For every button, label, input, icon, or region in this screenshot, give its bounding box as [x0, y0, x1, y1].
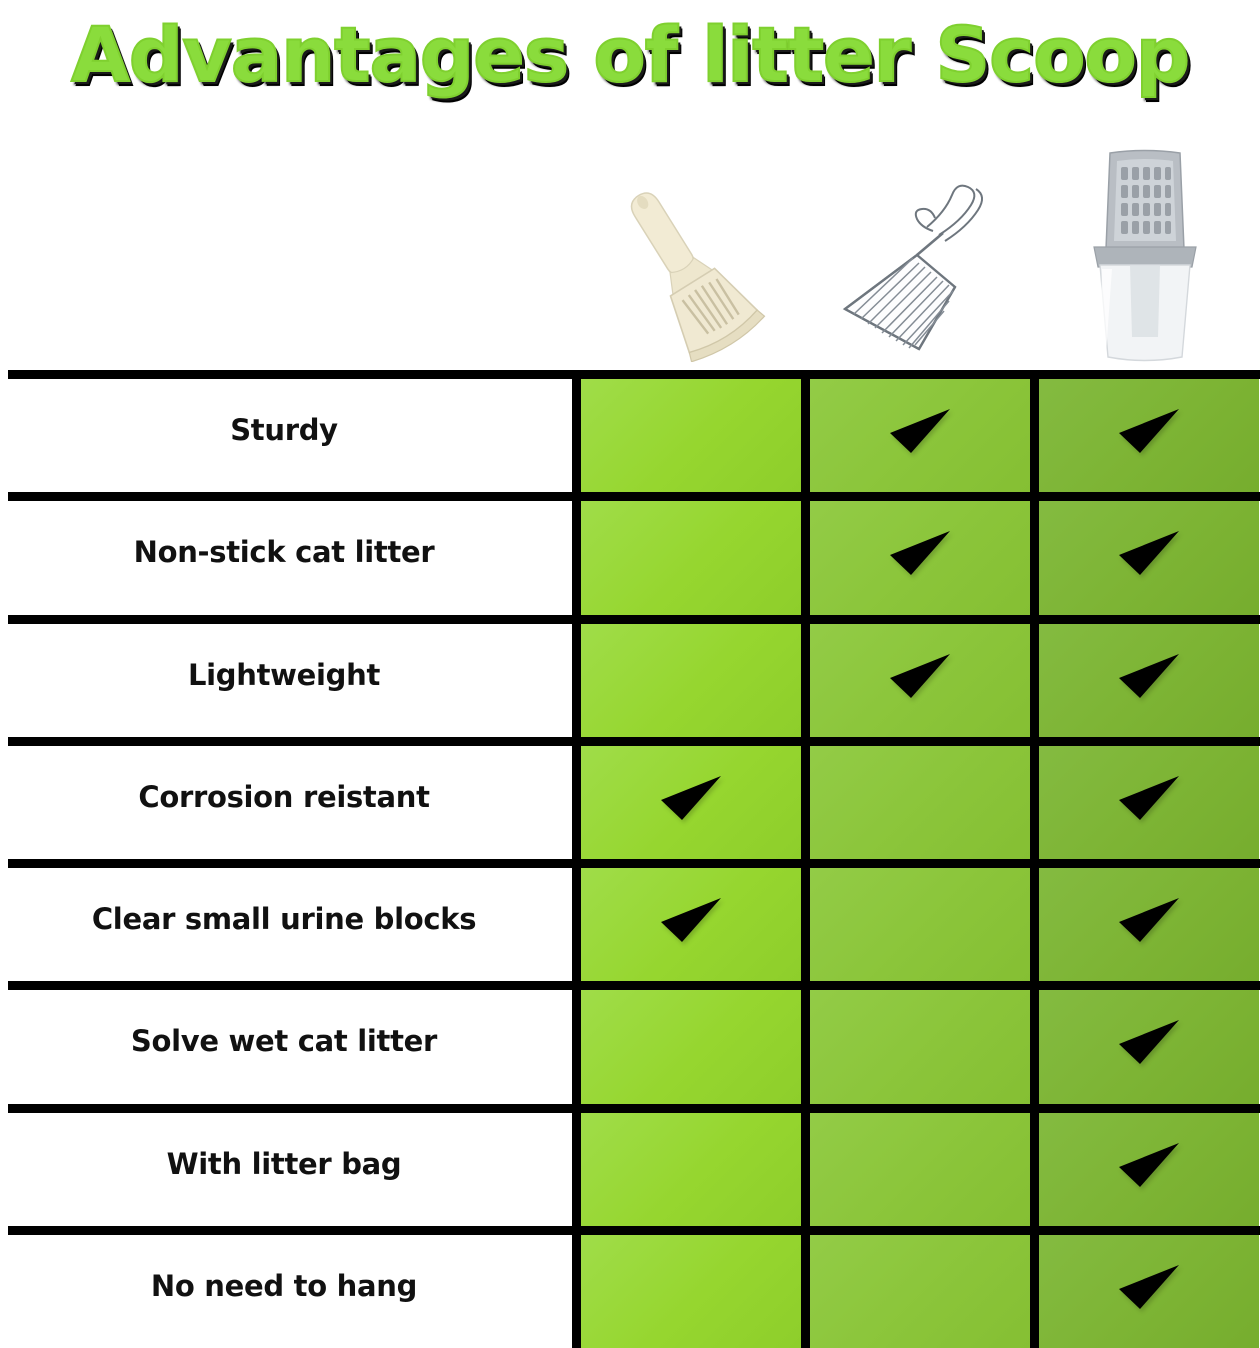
glyph-wrapper [1109, 517, 1189, 589]
check-icon [880, 640, 960, 712]
check-icon [1109, 517, 1189, 589]
glyph-wrapper [880, 1129, 960, 1201]
feature-label: Clear small urine blocks [92, 904, 476, 936]
mark-cell-check [1030, 981, 1259, 1103]
feature-label: No need to hang [151, 1271, 417, 1303]
mark-cell-check [572, 737, 801, 859]
product-header-row [572, 120, 1260, 370]
header-banner: Advantages of litter Scoop [0, 0, 1260, 110]
table-row: Solve wet cat litter [0, 981, 1260, 1103]
glyph-wrapper [1109, 640, 1189, 712]
check-icon [1109, 1006, 1189, 1078]
glyph-wrapper [1109, 884, 1189, 956]
cross-icon [880, 1006, 960, 1078]
feature-label: Sturdy [230, 415, 338, 447]
feature-label: Solve wet cat litter [131, 1026, 437, 1058]
table-row: Sturdy [0, 370, 1260, 492]
glyph-wrapper [1109, 1129, 1189, 1201]
mark-cell-cross [801, 1104, 1030, 1226]
glyph-wrapper [651, 395, 731, 467]
feature-label-cell: Clear small urine blocks [0, 859, 572, 981]
feature-label-cell: Lightweight [0, 615, 572, 737]
glyph-wrapper [880, 640, 960, 712]
glyph-wrapper [880, 762, 960, 834]
plastic-litter-scoop-icon [597, 162, 777, 362]
mark-cell-check [1030, 1226, 1259, 1348]
feature-label-cell: Solve wet cat litter [0, 981, 572, 1103]
feature-label: Corrosion reistant [138, 782, 429, 814]
table-row: With litter bag [0, 1104, 1260, 1226]
check-icon [1109, 395, 1189, 467]
cross-icon [651, 1006, 731, 1078]
cross-icon [880, 1251, 960, 1323]
mark-cell-check [1030, 737, 1259, 859]
table-row: Corrosion reistant [0, 737, 1260, 859]
glyph-wrapper [651, 762, 731, 834]
cross-icon [880, 884, 960, 956]
glyph-wrapper [1109, 762, 1189, 834]
glyph-wrapper [880, 1006, 960, 1078]
cross-icon [651, 1129, 731, 1201]
feature-label: Lightweight [188, 660, 380, 692]
mark-cell-check [801, 492, 1030, 614]
mark-cell-cross [572, 1104, 801, 1226]
mark-cell-cross [572, 370, 801, 492]
glyph-wrapper [880, 884, 960, 956]
product-image-scoop-with-bag-holder [1030, 120, 1259, 370]
check-icon [1109, 884, 1189, 956]
mark-cell-cross [572, 981, 801, 1103]
feature-label: With litter bag [167, 1149, 402, 1181]
feature-label-cell: No need to hang [0, 1226, 572, 1348]
metal-wire-litter-scoop-icon [821, 157, 1011, 362]
mark-cell-cross [801, 737, 1030, 859]
check-icon [1109, 1251, 1189, 1323]
check-icon [1109, 762, 1189, 834]
glyph-wrapper [651, 517, 731, 589]
comparison-table: SturdyNon-stick cat litterLightweightCor… [0, 370, 1260, 1348]
feature-label-cell: Sturdy [0, 370, 572, 492]
cross-icon [651, 517, 731, 589]
check-icon [651, 884, 731, 956]
mark-cell-cross [572, 1226, 801, 1348]
glyph-wrapper [1109, 1006, 1189, 1078]
cross-icon [651, 395, 731, 467]
glyph-wrapper [651, 1251, 731, 1323]
glyph-wrapper [651, 1006, 731, 1078]
cross-icon [651, 640, 731, 712]
mark-cell-check [1030, 370, 1259, 492]
table-row: Clear small urine blocks [0, 859, 1260, 981]
mark-cell-cross [572, 492, 801, 614]
mark-cell-cross [801, 1226, 1030, 1348]
table-row: No need to hang [0, 1226, 1260, 1348]
check-icon [651, 762, 731, 834]
glyph-wrapper [1109, 395, 1189, 467]
check-icon [880, 517, 960, 589]
mark-cell-check [1030, 615, 1259, 737]
glyph-wrapper [880, 1251, 960, 1323]
page-title: Advantages of litter Scoop [71, 17, 1189, 93]
mark-cell-cross [572, 615, 801, 737]
product-image-metal-wire-litter-scoop [801, 120, 1030, 370]
product-image-plastic-litter-scoop [572, 120, 801, 370]
mark-cell-cross [801, 981, 1030, 1103]
mark-cell-cross [801, 859, 1030, 981]
feature-label: Non-stick cat litter [134, 537, 435, 569]
table-row: Non-stick cat litter [0, 492, 1260, 614]
table-row: Lightweight [0, 615, 1260, 737]
feature-label-cell: Corrosion reistant [0, 737, 572, 859]
glyph-wrapper [651, 1129, 731, 1201]
glyph-wrapper [880, 517, 960, 589]
mark-cell-check [801, 615, 1030, 737]
cross-icon [880, 1129, 960, 1201]
mark-cell-check [801, 370, 1030, 492]
mark-cell-check [1030, 1104, 1259, 1226]
check-icon [1109, 1129, 1189, 1201]
check-icon [1109, 640, 1189, 712]
feature-label-cell: Non-stick cat litter [0, 492, 572, 614]
glyph-wrapper [651, 884, 731, 956]
mark-cell-check [1030, 492, 1259, 614]
feature-label-cell: With litter bag [0, 1104, 572, 1226]
check-icon [880, 395, 960, 467]
glyph-wrapper [1109, 1251, 1189, 1323]
mark-cell-check [572, 859, 801, 981]
glyph-wrapper [880, 395, 960, 467]
scoop-with-bag-holder-icon [1080, 147, 1210, 362]
glyph-wrapper [651, 640, 731, 712]
mark-cell-check [1030, 859, 1259, 981]
cross-icon [880, 762, 960, 834]
cross-icon [651, 1251, 731, 1323]
